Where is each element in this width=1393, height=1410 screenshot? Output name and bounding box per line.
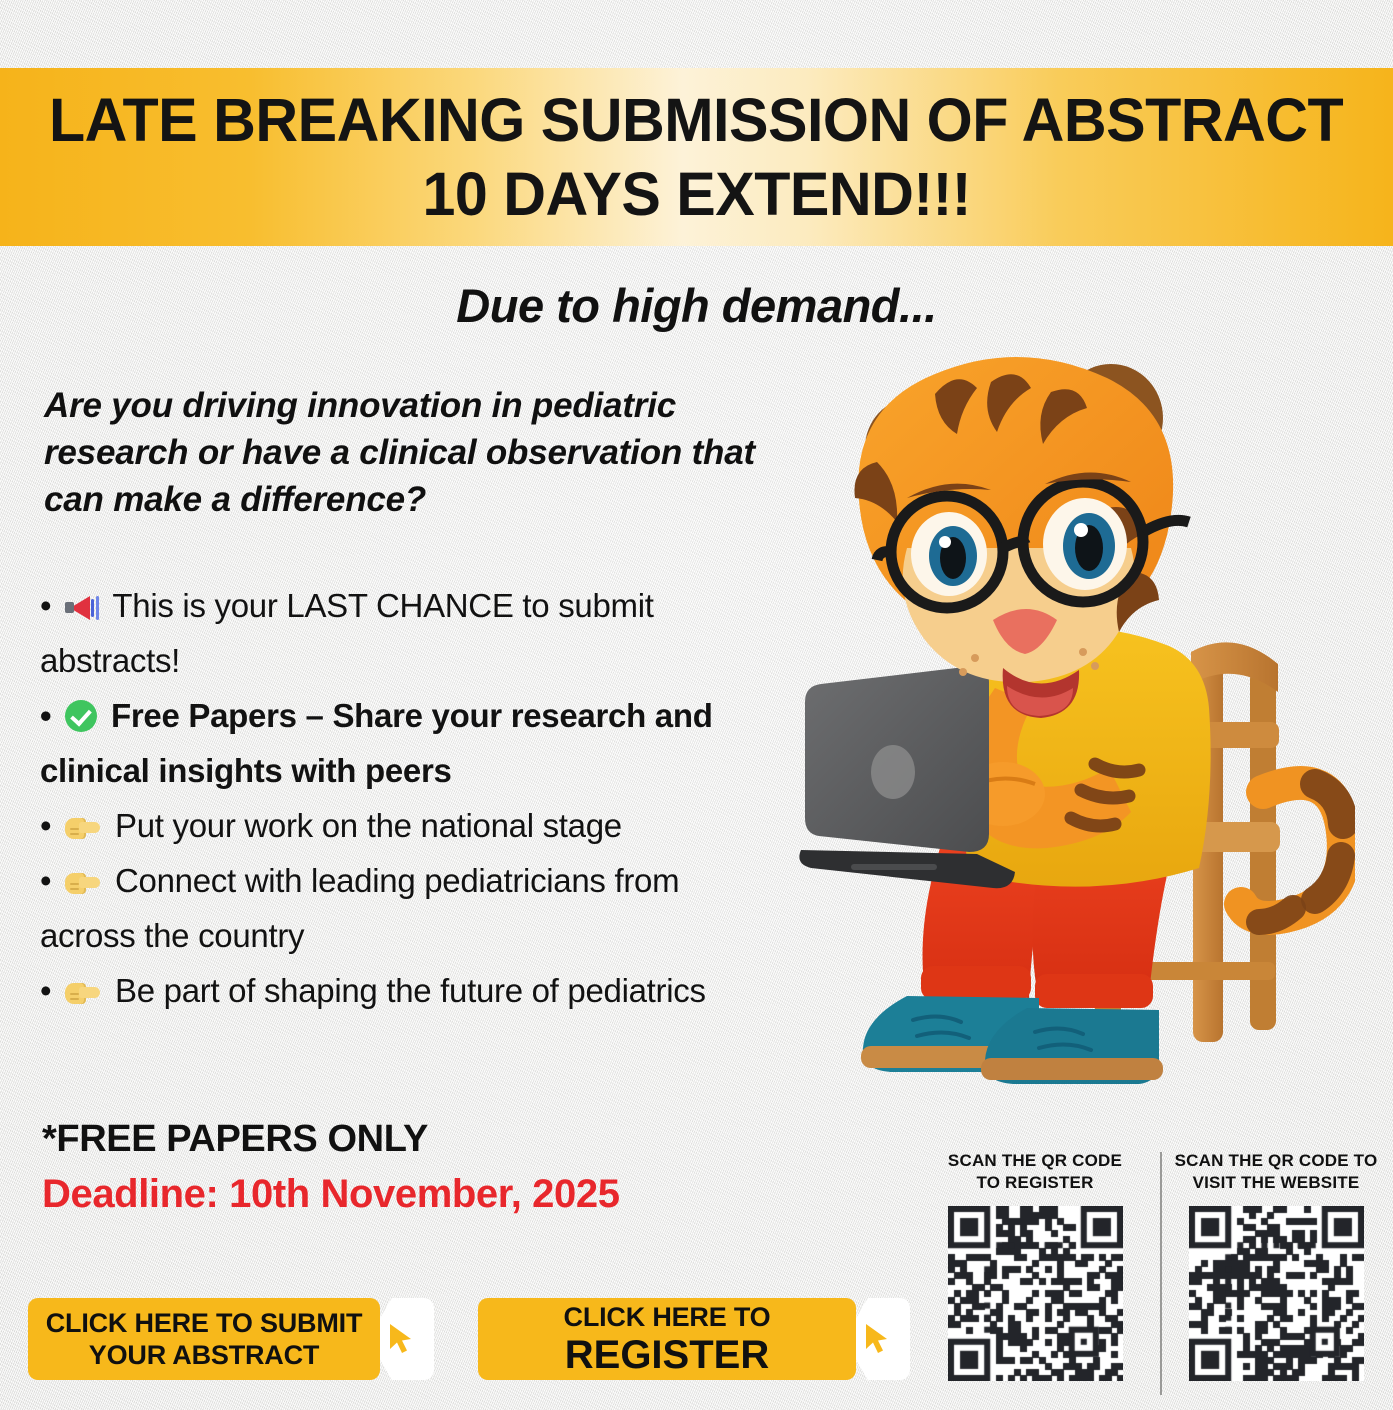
pointing-finger-icon <box>65 814 101 842</box>
list-item-label: Connect with leading pediatricians from … <box>40 862 679 954</box>
list-item: • Free Papers – Share your research and … <box>40 688 740 798</box>
submit-abstract-label: CLICK HERE TO SUBMIT YOUR ABSTRACT <box>28 1298 380 1380</box>
bullet-dot: • <box>40 972 51 1009</box>
cursor-arrow-icon <box>386 1322 416 1356</box>
qr-divider <box>1160 1152 1162 1395</box>
qr-register-block: SCAN THE QR CODE TO REGISTER <box>920 1150 1150 1381</box>
list-item: • This is your LAST CHANCE to submit abs… <box>40 578 740 688</box>
submit-abstract-button[interactable]: CLICK HERE TO SUBMIT YOUR ABSTRACT <box>28 1298 434 1380</box>
register-label-line1: CLICK HERE TO <box>564 1304 771 1331</box>
register-label-group: CLICK HERE TO REGISTER <box>478 1298 856 1380</box>
benefits-list: • This is your LAST CHANCE to submit abs… <box>40 578 740 1018</box>
header-line-2: 10 DAYS EXTEND!!! <box>422 157 971 231</box>
qr-code-register[interactable] <box>948 1206 1123 1381</box>
list-item-label: Be part of shaping the future of pediatr… <box>115 972 706 1009</box>
qr-website-block: SCAN THE QR CODE TO VISIT THE WEBSITE <box>1172 1150 1380 1381</box>
pointing-finger-icon <box>65 979 101 1007</box>
qr-website-label-line1: SCAN THE QR CODE TO <box>1172 1150 1380 1172</box>
list-item-label: This is your LAST CHANCE to submit abstr… <box>40 587 654 679</box>
bullet-dot: • <box>40 697 51 734</box>
list-item: • Connect with leading pediatricians fro… <box>40 853 740 963</box>
pointing-finger-icon <box>65 869 101 897</box>
header-line-1: LATE BREAKING SUBMISSION OF ABSTRACT <box>49 83 1343 157</box>
bullet-dot: • <box>40 807 51 844</box>
list-item: • Put your work on the national stage <box>40 798 740 853</box>
free-papers-note: *FREE PAPERS ONLY <box>42 1118 428 1161</box>
qr-register-label-line2: TO REGISTER <box>920 1172 1150 1194</box>
intro-paragraph: Are you driving innovation in pediatric … <box>44 382 774 523</box>
register-label-line2: REGISTER <box>565 1335 769 1375</box>
qr-code-website[interactable] <box>1189 1206 1364 1381</box>
cursor-arrow-icon <box>862 1322 892 1356</box>
qr-register-label-line1: SCAN THE QR CODE <box>920 1150 1150 1172</box>
bullet-dot: • <box>40 862 51 899</box>
green-check-icon <box>65 700 97 732</box>
register-button[interactable]: CLICK HERE TO REGISTER <box>478 1298 910 1380</box>
list-item-label: Free Papers – Share your research and cl… <box>40 697 713 789</box>
list-item: • Be part of shaping the future of pedia… <box>40 963 740 1018</box>
qr-section: SCAN THE QR CODE TO REGISTER SCAN THE QR… <box>920 1150 1380 1400</box>
bullet-dot: • <box>40 587 51 624</box>
megaphone-icon <box>65 594 99 622</box>
list-item-label: Put your work on the national stage <box>115 807 622 844</box>
header-banner: LATE BREAKING SUBMISSION OF ABSTRACT 10 … <box>0 68 1393 246</box>
deadline-text: Deadline: 10th November, 2025 <box>42 1172 620 1217</box>
subheadline: Due to high demand... <box>0 278 1393 334</box>
qr-website-label-line2: VISIT THE WEBSITE <box>1172 1172 1380 1194</box>
tiger-mascot-illustration <box>795 352 1355 1092</box>
